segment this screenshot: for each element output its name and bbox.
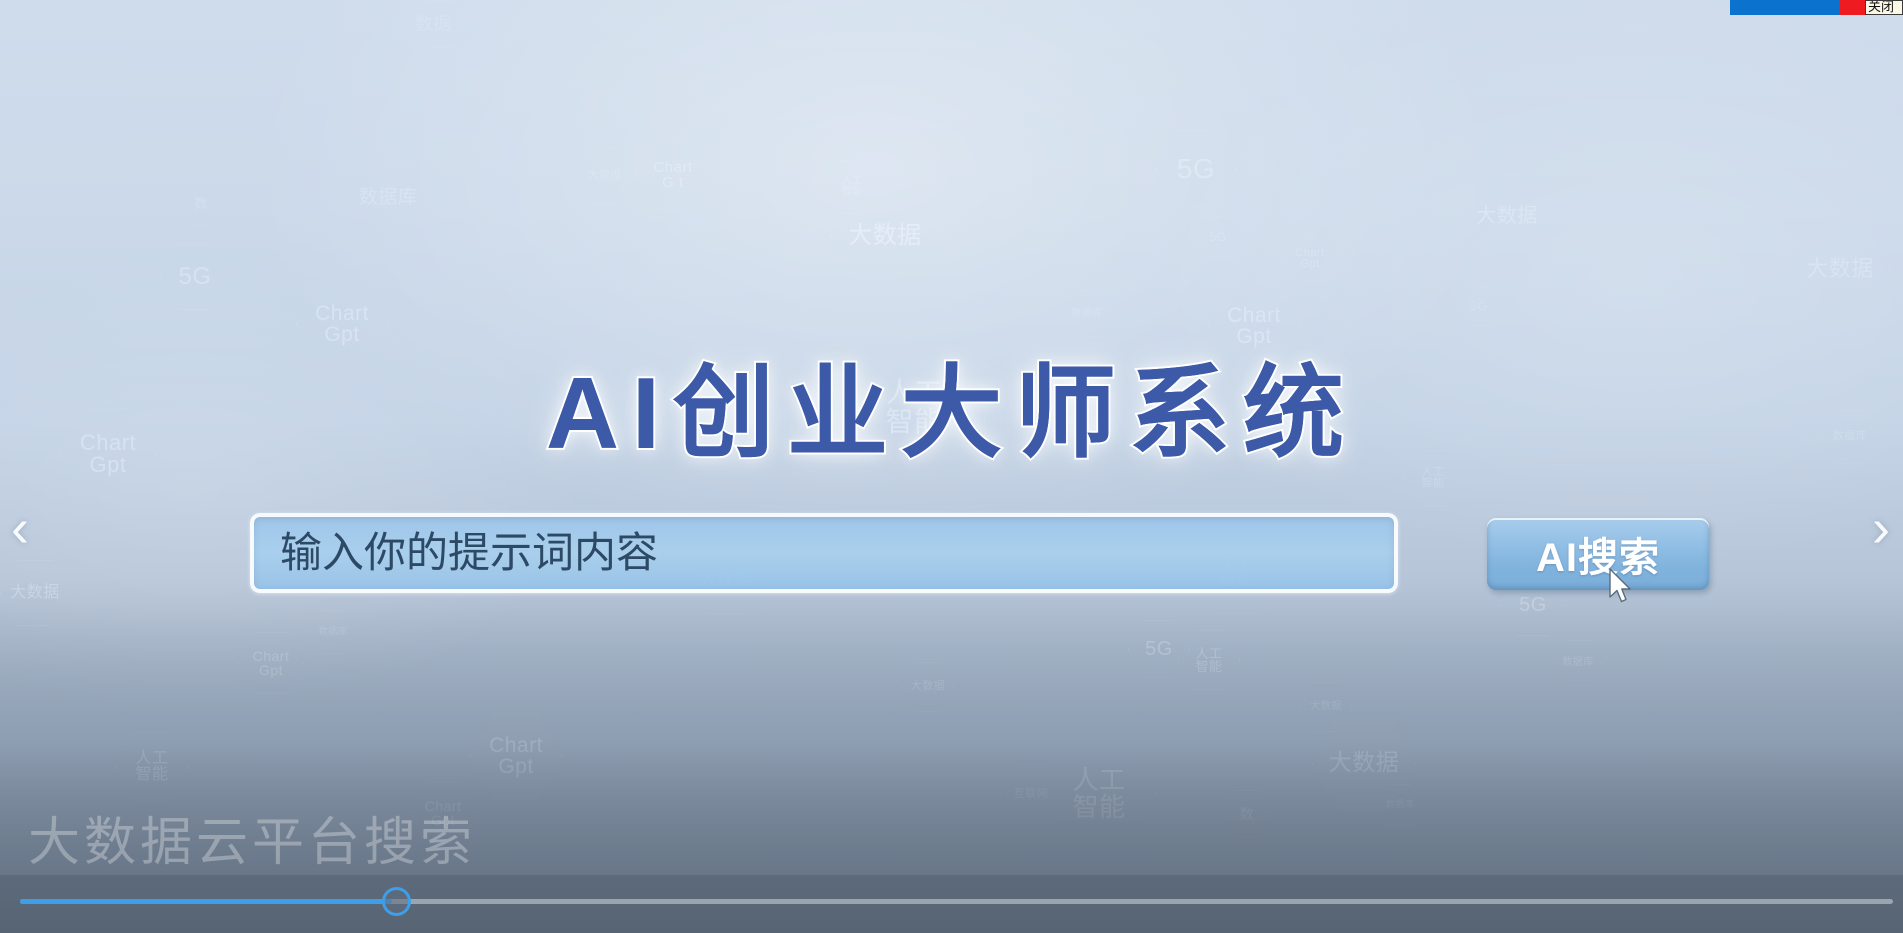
hero-stage: 数据库大数据Chart G t人工 智能大数据5G大数据数5GChart Gpt… bbox=[0, 0, 1903, 933]
background-hex-badge: 数据库 bbox=[1062, 290, 1112, 338]
background-hex-badge: 5G bbox=[1458, 286, 1500, 326]
background-hex-badge: 数据库 bbox=[336, 150, 440, 246]
ai-search-button[interactable]: AI搜索 bbox=[1487, 518, 1709, 590]
watermark-text: 大数据云平台搜索 bbox=[28, 800, 476, 875]
slider-fill bbox=[20, 899, 392, 904]
background-hex-badge: 大数据 bbox=[575, 148, 635, 204]
background-hex-badge: 5G bbox=[1128, 620, 1190, 678]
close-tooltip: 关闭 bbox=[1865, 0, 1903, 15]
background-hex-badge: 人工 智能 bbox=[116, 732, 188, 802]
background-hex-badge: 数据库 bbox=[310, 610, 356, 654]
background-hex-badge: 数 bbox=[178, 182, 224, 226]
background-hex-badge: 数据 bbox=[390, 0, 476, 48]
carousel-prev-icon[interactable]: ‹ bbox=[0, 500, 40, 556]
page-title: AI创业大师系统 bbox=[0, 332, 1903, 478]
background-hex-badge: 大数据 bbox=[902, 662, 954, 712]
background-hex-badge: Chart Gpt bbox=[1286, 236, 1334, 282]
taskbar-blue-segment[interactable] bbox=[1730, 0, 1840, 15]
slider-handle[interactable] bbox=[382, 887, 411, 916]
background-hex-badge: Chart G t bbox=[636, 140, 710, 210]
taskbar-fragment: 关闭 bbox=[1730, 0, 1903, 15]
background-hex-badge: 5G bbox=[1156, 130, 1236, 208]
taskbar-close-red-segment[interactable] bbox=[1840, 0, 1865, 15]
bottom-slider[interactable] bbox=[0, 875, 1903, 933]
background-hex-badge: 数据库 bbox=[1554, 640, 1602, 686]
background-hex-badge: 人工 智能 bbox=[1178, 630, 1240, 690]
background-hex-badge: 大数据 bbox=[1790, 222, 1890, 316]
background-hex-badge: 5G bbox=[160, 244, 230, 310]
background-hex-badge: 数 bbox=[1222, 790, 1272, 838]
background-hex-badge: Chart Gpt bbox=[238, 632, 304, 694]
search-row: AI搜索 bbox=[0, 510, 1903, 596]
background-hex-badge: Chart Gpt bbox=[470, 712, 562, 800]
prompt-input[interactable] bbox=[250, 513, 1398, 593]
background-hex-badge: 大数据 bbox=[1462, 174, 1552, 258]
carousel-next-icon[interactable]: › bbox=[1861, 500, 1901, 556]
background-hex-badge: 5G bbox=[1196, 216, 1240, 258]
